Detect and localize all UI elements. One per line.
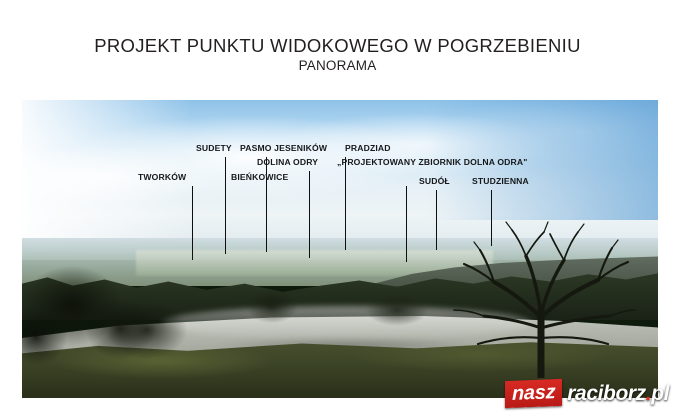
tree-cluster-middle-left bbox=[234, 278, 310, 334]
panorama-photo: TWORKÓW SUDETY PASMO JESENIKÓW PRADZIAD … bbox=[22, 100, 658, 398]
leader-line-dolina bbox=[309, 171, 310, 258]
leader-line-sudol bbox=[436, 190, 437, 250]
nasz-raciborz-logo[interactable]: nasz raciborz.pl bbox=[505, 378, 669, 408]
panorama-label-sudety: SUDETY bbox=[196, 143, 232, 153]
logo-domain-word: raciborz bbox=[567, 382, 646, 405]
panorama-label-studzienna: STUDZIENNA bbox=[472, 176, 529, 186]
tree-cluster-left-secondary bbox=[82, 280, 212, 380]
leader-line-tworkow bbox=[192, 186, 193, 260]
panorama-label-bienkowice: BIEŃKOWICE bbox=[231, 172, 288, 182]
tree-cluster-middle-right bbox=[352, 286, 442, 334]
bare-tree-right bbox=[446, 218, 636, 378]
panorama-label-sudol: SUDÓŁ bbox=[419, 176, 450, 186]
leader-line-pradziad bbox=[345, 157, 346, 250]
logo-domain-text: raciborz.pl bbox=[567, 383, 669, 404]
panorama-label-projektowany-zbiornik: „PROJEKTOWANY ZBIORNIK DOLNA ODRA" bbox=[337, 157, 527, 167]
page-subtitle: PANORAMA bbox=[0, 58, 675, 73]
leader-line-bienkowice bbox=[406, 186, 407, 262]
title-block: PROJEKT PUNKTU WIDOKOWEGO W POGRZEBIENIU… bbox=[0, 36, 675, 73]
page-title: PROJEKT PUNKTU WIDOKOWEGO W POGRZEBIENIU bbox=[0, 36, 675, 55]
panorama-label-pasmo-jesenikow: PASMO JESENIKÓW bbox=[240, 143, 327, 153]
panorama-label-dolina-odry: DOLINA ODRY bbox=[257, 157, 318, 167]
logo-brand-badge: nasz bbox=[505, 378, 562, 407]
panorama-label-tworkow: TWORKÓW bbox=[138, 172, 186, 182]
leader-line-sudety bbox=[225, 157, 226, 254]
leader-line-studzienna bbox=[491, 190, 492, 246]
panorama-label-pradziad: PRADZIAD bbox=[345, 143, 391, 153]
logo-tld: pl bbox=[651, 382, 669, 405]
